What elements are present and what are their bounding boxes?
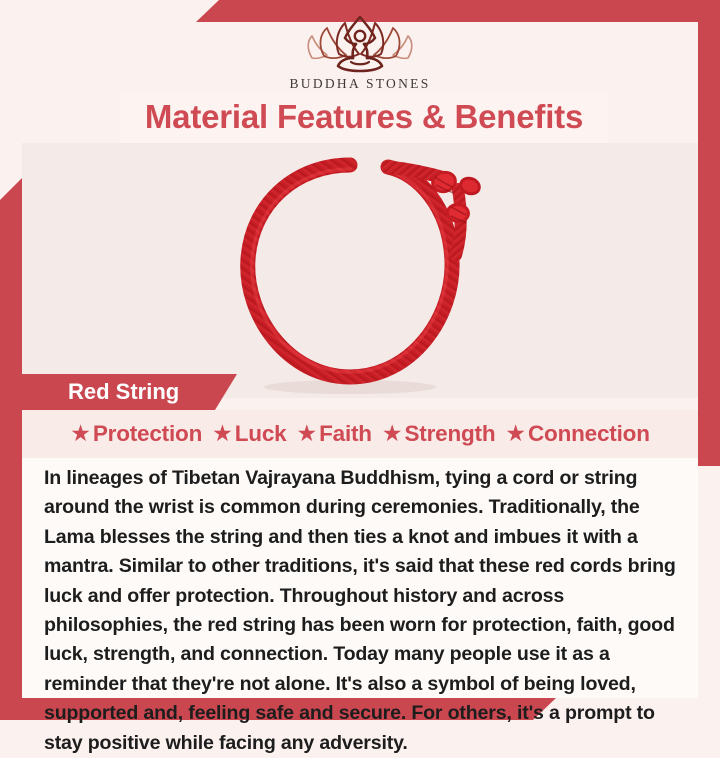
benefit-item: ★ Connection	[505, 421, 649, 447]
benefit-label: Luck	[235, 421, 287, 447]
title-banner: Material Features & Benefits	[120, 91, 608, 143]
material-name-banner: Red String	[22, 374, 237, 410]
star-icon: ★	[505, 422, 526, 445]
benefits-list: ★ Protection ★ Luck ★ Faith ★ Strength ★…	[22, 410, 698, 458]
red-braided-string-bracelet	[222, 151, 498, 395]
description-panel: In lineages of Tibetan Vajrayana Buddhis…	[22, 458, 698, 698]
benefit-item: ★ Luck	[212, 421, 286, 447]
benefit-item: ★ Strength	[382, 421, 496, 447]
benefit-label: Protection	[93, 421, 202, 447]
decor-band-left	[0, 178, 22, 720]
star-icon: ★	[382, 422, 403, 445]
benefit-item: ★ Faith	[296, 421, 371, 447]
description-text: In lineages of Tibetan Vajrayana Buddhis…	[44, 464, 676, 758]
benefit-item: ★ Protection	[70, 421, 202, 447]
brand-wordmark: BUDDHA STONES	[0, 76, 720, 92]
lotus-meditation-icon	[298, 14, 422, 74]
product-photo-stage	[22, 143, 698, 398]
star-icon: ★	[70, 422, 91, 445]
star-icon: ★	[296, 422, 317, 445]
benefit-label: Faith	[319, 421, 372, 447]
infographic-canvas: BUDDHA STONES Material Features & Benefi…	[0, 0, 720, 720]
material-name-label: Red String	[68, 379, 179, 405]
brand-logo: BUDDHA STONES	[0, 14, 720, 92]
page-title: Material Features & Benefits	[145, 98, 583, 136]
star-icon: ★	[212, 422, 233, 445]
benefit-label: Strength	[404, 421, 495, 447]
benefit-label: Connection	[528, 421, 650, 447]
